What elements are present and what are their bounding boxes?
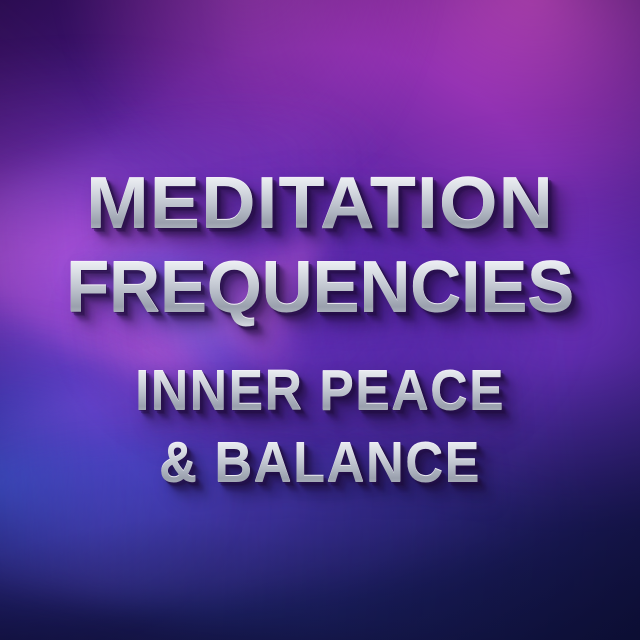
subtitle-line-inner-peace: INNER PEACE xyxy=(28,356,611,426)
title-line-frequencies: FREQUENCIES xyxy=(4,246,636,330)
title-block: MEDITATION FREQUENCIES INNER PEACE & BAL… xyxy=(0,162,640,498)
subtitle-line-and-balance: & BALANCE xyxy=(25,428,615,498)
album-cover: MEDITATION FREQUENCIES INNER PEACE & BAL… xyxy=(0,0,640,640)
title-line-meditation: MEDITATION xyxy=(0,162,640,246)
